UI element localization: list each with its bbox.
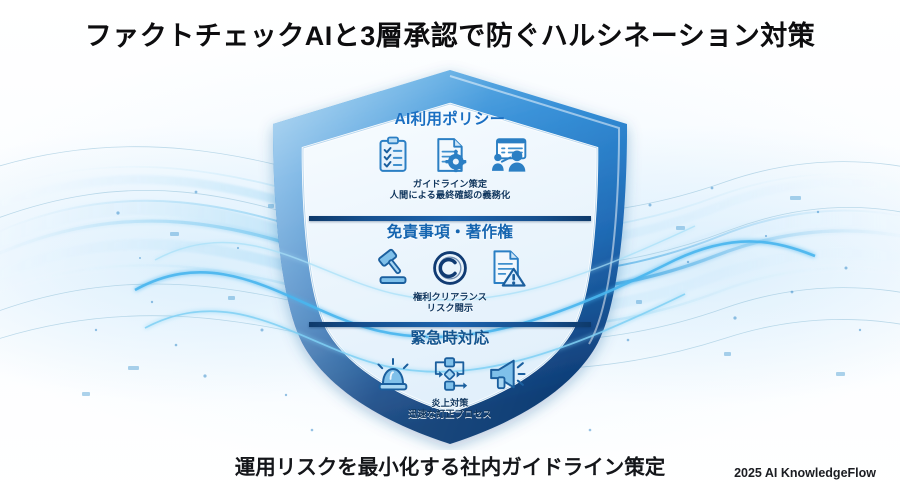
section-3-subtext-line-2: 迅速な訂正プロセス <box>313 409 587 421</box>
flowchart-process-icon <box>430 354 470 394</box>
section-2-icons <box>313 246 587 290</box>
section-3-icons <box>313 352 587 396</box>
section-2-heading: 免責事項・著作権 <box>313 221 587 241</box>
section-1-subtext: ガイドライン策定 人間による最終確認の義務化 <box>313 179 587 202</box>
section-1-icons <box>313 133 587 177</box>
section-3-subtext-line-1: 炎上対策 <box>313 398 587 410</box>
section-1-subtext-line-2: 人間による最終確認の義務化 <box>313 190 587 202</box>
gavel-icon <box>373 248 413 288</box>
copyright-icon <box>430 248 470 288</box>
section-2-subtext: 権利クリアランス リスク開示 <box>313 292 587 315</box>
section-2-subtext-line-2: リスク開示 <box>313 303 587 315</box>
presentation-training-icon <box>487 135 527 175</box>
section-disclaimer-copyright: 免責事項・著作権 <box>313 221 587 322</box>
infographic-canvas: ファクトチェックAIと3層承認で防ぐハルシネーション対策 <box>0 0 900 502</box>
section-3-subtext: 炎上対策 迅速な訂正プロセス <box>313 398 587 421</box>
megaphone-icon <box>487 354 527 394</box>
section-2-subtext-line-1: 権利クリアランス <box>313 292 587 304</box>
shield-sections: AI利用ポリシー <box>313 108 587 428</box>
section-ai-policy: AI利用ポリシー <box>313 108 587 216</box>
page-title: ファクトチェックAIと3層承認で防ぐハルシネーション対策 <box>0 14 900 53</box>
section-1-subtext-line-1: ガイドライン策定 <box>313 179 587 191</box>
clipboard-checklist-icon <box>373 135 413 175</box>
section-1-heading: AI利用ポリシー <box>313 108 587 128</box>
section-3-heading: 緊急時対応 <box>313 327 587 347</box>
shield-graphic: AI利用ポリシー <box>255 60 645 450</box>
document-warning-icon <box>487 248 527 288</box>
document-gear-icon <box>430 135 470 175</box>
section-emergency-response: 緊急時対応 <box>313 327 587 427</box>
credit-label: 2025 AI KnowledgeFlow <box>734 466 876 480</box>
alarm-siren-icon <box>373 354 413 394</box>
